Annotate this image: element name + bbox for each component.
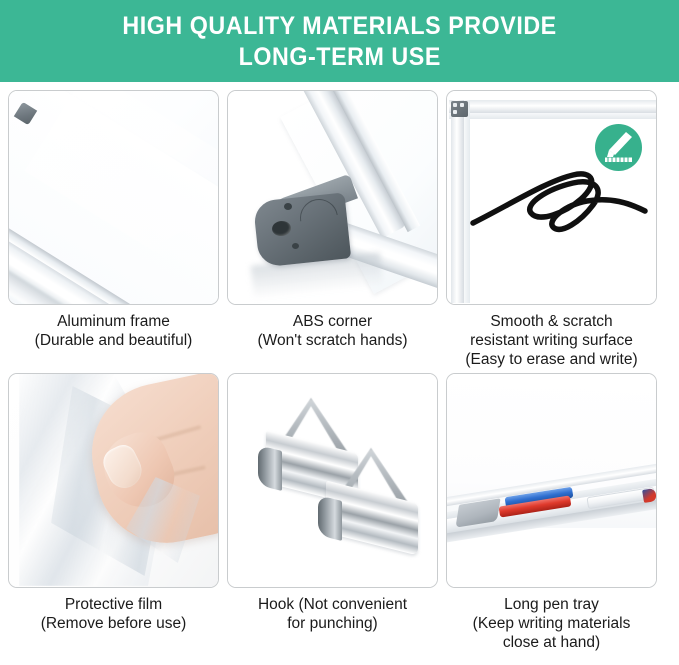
caption-line: Smooth & scratch <box>442 312 661 331</box>
corner-detail-dot <box>453 110 457 114</box>
feature-card-abs-corner: ABS corner (Won't scratch hands) <box>227 90 438 373</box>
caption-line: (Remove before use) <box>4 614 223 633</box>
caption-line: for punching) <box>223 614 442 633</box>
feature-card-aluminum-frame: Aluminum frame (Durable and beautiful) <box>8 90 219 373</box>
caption-line: close at hand) <box>442 633 661 652</box>
feature-caption-aluminum-frame: Aluminum frame (Durable and beautiful) <box>4 305 223 354</box>
eraser-badge <box>595 124 642 171</box>
corner-screw-hole <box>284 203 292 210</box>
feature-photo-aluminum-frame <box>8 90 219 305</box>
feature-photo-pen-tray <box>446 373 657 588</box>
caption-line: (Durable and beautiful) <box>4 331 223 350</box>
corner-screw-hole <box>292 243 299 249</box>
feature-caption-abs-corner: ABS corner (Won't scratch hands) <box>223 305 442 354</box>
feature-photo-hooks <box>227 373 438 588</box>
caption-line: Protective film <box>4 595 223 614</box>
feature-caption-writing-surface: Smooth & scratch resistant writing surfa… <box>442 305 661 373</box>
caption-line: resistant writing surface <box>442 331 661 350</box>
feature-caption-protective-film: Protective film (Remove before use) <box>4 588 223 637</box>
feature-photo-writing-surface <box>446 90 657 305</box>
caption-line: (Keep writing materials <box>442 614 661 633</box>
frame-rail-top-inner <box>449 113 656 119</box>
frame-rail-left <box>451 100 464 303</box>
hanging-hook <box>326 446 422 556</box>
caption-line: (Won't scratch hands) <box>223 331 442 350</box>
corner-detail-dot <box>460 103 464 107</box>
caption-line: Long pen tray <box>442 595 661 614</box>
caption-line: Aluminum frame <box>4 312 223 331</box>
feature-caption-hooks: Hook (Not convenient for punching) <box>223 588 442 637</box>
caption-line: Hook (Not convenient <box>223 595 442 614</box>
feature-card-protective-film: Protective film (Remove before use) <box>8 373 219 656</box>
feature-photo-protective-film <box>8 373 219 588</box>
feature-card-pen-tray: Long pen tray (Keep writing materials cl… <box>446 373 657 656</box>
banner-headline-line-1: HIGH QUALITY MATERIALS PROVIDE <box>122 11 556 42</box>
feature-grid: Aluminum frame (Durable and beautiful) A… <box>0 82 679 656</box>
abs-corner-piece <box>253 192 351 267</box>
feature-photo-abs-corner <box>227 90 438 305</box>
frame-corner-joint <box>451 101 468 117</box>
banner-headline-line-2: LONG-TERM USE <box>238 42 440 73</box>
feature-card-hooks: Hook (Not convenient for punching) <box>227 373 438 656</box>
corner-detail-dot <box>453 103 457 107</box>
caption-line: ABS corner <box>223 312 442 331</box>
frame-rail-top <box>449 100 656 113</box>
header-banner: HIGH QUALITY MATERIALS PROVIDE LONG-TERM… <box>0 0 679 82</box>
caption-line: (Easy to erase and write) <box>442 350 661 369</box>
eraser-icon <box>595 124 642 171</box>
feature-card-writing-surface: Smooth & scratch resistant writing surfa… <box>446 90 657 373</box>
feature-caption-pen-tray: Long pen tray (Keep writing materials cl… <box>442 588 661 656</box>
marker-scribble <box>469 161 649 241</box>
